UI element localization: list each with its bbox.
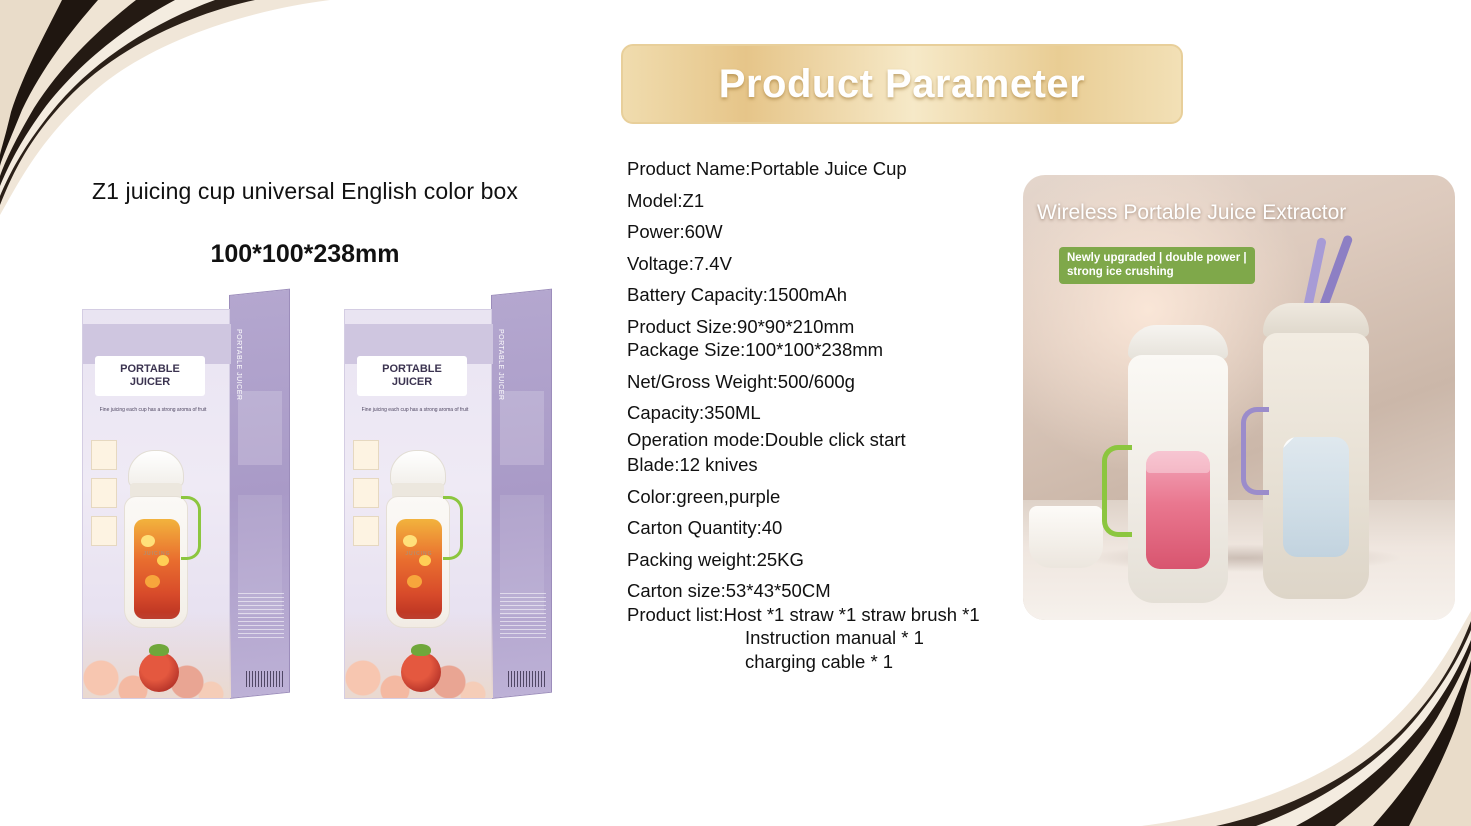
juicer-body-brand: JUICING	[399, 551, 439, 557]
package-front-panel: PORTABLE JUICER Fine juicing each cup ha…	[82, 309, 230, 699]
spec-row-voltage: Voltage:7.4V	[627, 255, 1057, 274]
package-brand-line1: PORTABLE	[382, 363, 442, 375]
berry-icon	[401, 652, 441, 692]
fruit-chunk	[145, 575, 160, 588]
package-front-panel: PORTABLE JUICER Fine juicing each cup ha…	[344, 309, 492, 699]
juicer-body: JUICING	[124, 496, 188, 628]
left-product-panel: Z1 juicing cup universal English color b…	[0, 0, 610, 826]
package-thumb-1	[353, 440, 379, 470]
bottle-strap-purple	[1241, 407, 1269, 495]
spec-row-product-size: Product Size:90*90*210mm	[627, 318, 1057, 337]
spec-row-charging-cable: charging cable * 1	[627, 653, 1057, 672]
spec-row-packing-weight: Packing weight:25KG	[627, 551, 1057, 570]
package-side-block-1	[238, 391, 282, 465]
package-side-specs	[500, 593, 546, 639]
juice-fill	[396, 519, 442, 619]
package-images: PORTABLE JUICER Fine juicing each cup ha…	[82, 295, 552, 705]
package-thumb-3	[91, 516, 117, 546]
bottle-cap	[1263, 303, 1369, 337]
package-brand-label: PORTABLE JUICER	[357, 356, 467, 396]
spec-list: Product Name:Portable Juice Cup Model:Z1…	[627, 160, 1057, 684]
juice-bottle-ice	[1263, 303, 1369, 603]
product-parameter-title: Product Parameter	[719, 62, 1085, 107]
badge-line-2: strong ice crushing	[1067, 266, 1174, 278]
page-title: Z1 juicing cup universal English color b…	[0, 178, 610, 205]
package-box-2: PORTABLE JUICER Fine juicing each cup ha…	[344, 295, 552, 699]
juicer-strap-green	[443, 496, 463, 560]
photo-side-cup	[1029, 506, 1103, 568]
package-brand-line2: JUICER	[392, 376, 432, 388]
package-side-specs	[238, 593, 284, 639]
spec-row-color: Color:green,purple	[627, 488, 1057, 507]
package-tagline: Fine juicing each cup has a strong aroma…	[97, 407, 209, 414]
package-side-block-1	[500, 391, 544, 465]
package-tagline: Fine juicing each cup has a strong aroma…	[359, 407, 471, 414]
smoothie-fill	[1146, 451, 1210, 569]
package-thumb-2	[353, 478, 379, 508]
spec-row-product-list: Product list:Host *1 straw *1 straw brus…	[627, 606, 1057, 625]
spec-row-instruction-manual: Instruction manual * 1	[627, 629, 1057, 648]
spec-row-blade: Blade:12 knives	[627, 456, 1057, 475]
juicer-body: JUICING	[386, 496, 450, 628]
bottle-cap	[1128, 325, 1228, 359]
spec-row-operation-mode: Operation mode:Double click start	[627, 428, 907, 452]
photo-title: Wireless Portable Juice Extractor	[1037, 201, 1449, 225]
package-brand-line2: JUICER	[130, 376, 170, 388]
product-parameter-header: Product Parameter	[621, 44, 1183, 124]
bottle-body	[1128, 355, 1228, 603]
spec-row-battery-capacity: Battery Capacity:1500mAh	[627, 286, 1057, 305]
spec-row-carton-quantity: Carton Quantity:40	[627, 519, 1057, 538]
barcode-icon	[246, 671, 284, 687]
spec-row-package-size: Package Size:100*100*238mm	[627, 341, 1057, 360]
juicer-strap-green	[181, 496, 201, 560]
decorative-corner-bottom-right	[1141, 611, 1471, 826]
fruit-chunk	[141, 535, 155, 547]
juicer-body-brand: JUICING	[137, 551, 177, 557]
package-thumb-2	[91, 478, 117, 508]
package-box-1: PORTABLE JUICER Fine juicing each cup ha…	[82, 295, 290, 699]
juice-bottle-smoothie	[1128, 325, 1228, 605]
spec-row-carton-size: Carton size:53*43*50CM	[627, 582, 1057, 601]
fruit-chunk	[403, 535, 417, 547]
spec-row-model: Model:Z1	[627, 192, 1057, 211]
berry-icon	[139, 652, 179, 692]
package-thumb-3	[353, 516, 379, 546]
package-dimensions: 100*100*238mm	[0, 240, 610, 269]
package-thumb-1	[91, 440, 117, 470]
spec-row-product-name: Product Name:Portable Juice Cup	[627, 160, 1057, 179]
crushed-ice-fill	[1283, 437, 1349, 557]
spec-row-power: Power:60W	[627, 223, 1057, 242]
spec-row-capacity: Capacity:350ML	[627, 404, 1057, 423]
product-photo: Wireless Portable Juice Extractor Newly …	[1023, 175, 1455, 620]
package-brand-line1: PORTABLE	[120, 363, 180, 375]
barcode-icon	[508, 671, 546, 687]
badge-line-1: Newly upgraded | double power |	[1067, 252, 1247, 264]
spec-row-net-gross-weight: Net/Gross Weight:500/600g	[627, 373, 1057, 392]
juice-fill	[134, 519, 180, 619]
package-brand-label: PORTABLE JUICER	[95, 356, 205, 396]
bottle-strap-green	[1102, 445, 1132, 537]
bottle-body	[1263, 333, 1369, 599]
photo-feature-badge: Newly upgraded | double power | strong i…	[1059, 247, 1255, 284]
fruit-chunk	[407, 575, 422, 588]
